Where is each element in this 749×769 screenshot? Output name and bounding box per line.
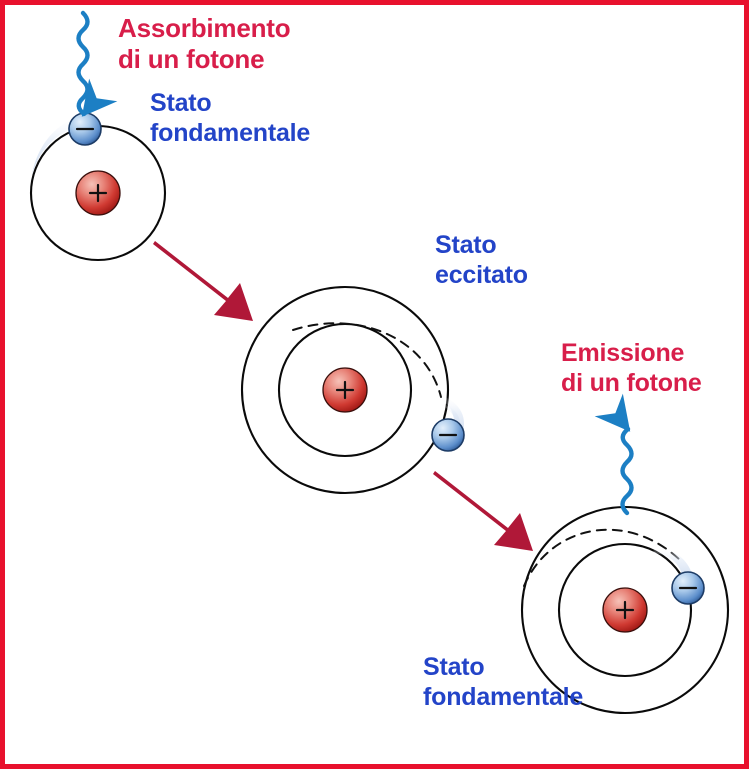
photon-absorbed xyxy=(79,13,88,114)
atom-excited xyxy=(242,287,464,493)
photon-wave-emitted xyxy=(623,429,632,513)
label-excited-state: Stato eccitato xyxy=(435,231,528,290)
diagram-canvas: Assorbimento di un fotone Stato fondamen… xyxy=(0,0,749,769)
photon-emitted xyxy=(623,429,632,513)
atom-ground-initial xyxy=(31,113,165,260)
arrow-emission-step xyxy=(433,471,533,551)
label-ground-state-final: Stato fondamentale xyxy=(423,653,583,712)
label-ground-state-initial: Stato fondamentale xyxy=(150,89,310,148)
electron-drop-dashed-path xyxy=(524,530,681,586)
label-emission: Emissione di un fotone xyxy=(561,339,702,398)
photon-wave-absorbed xyxy=(79,13,88,114)
label-absorption: Assorbimento di un fotone xyxy=(118,13,290,74)
arrow-absorption-step xyxy=(153,241,253,321)
